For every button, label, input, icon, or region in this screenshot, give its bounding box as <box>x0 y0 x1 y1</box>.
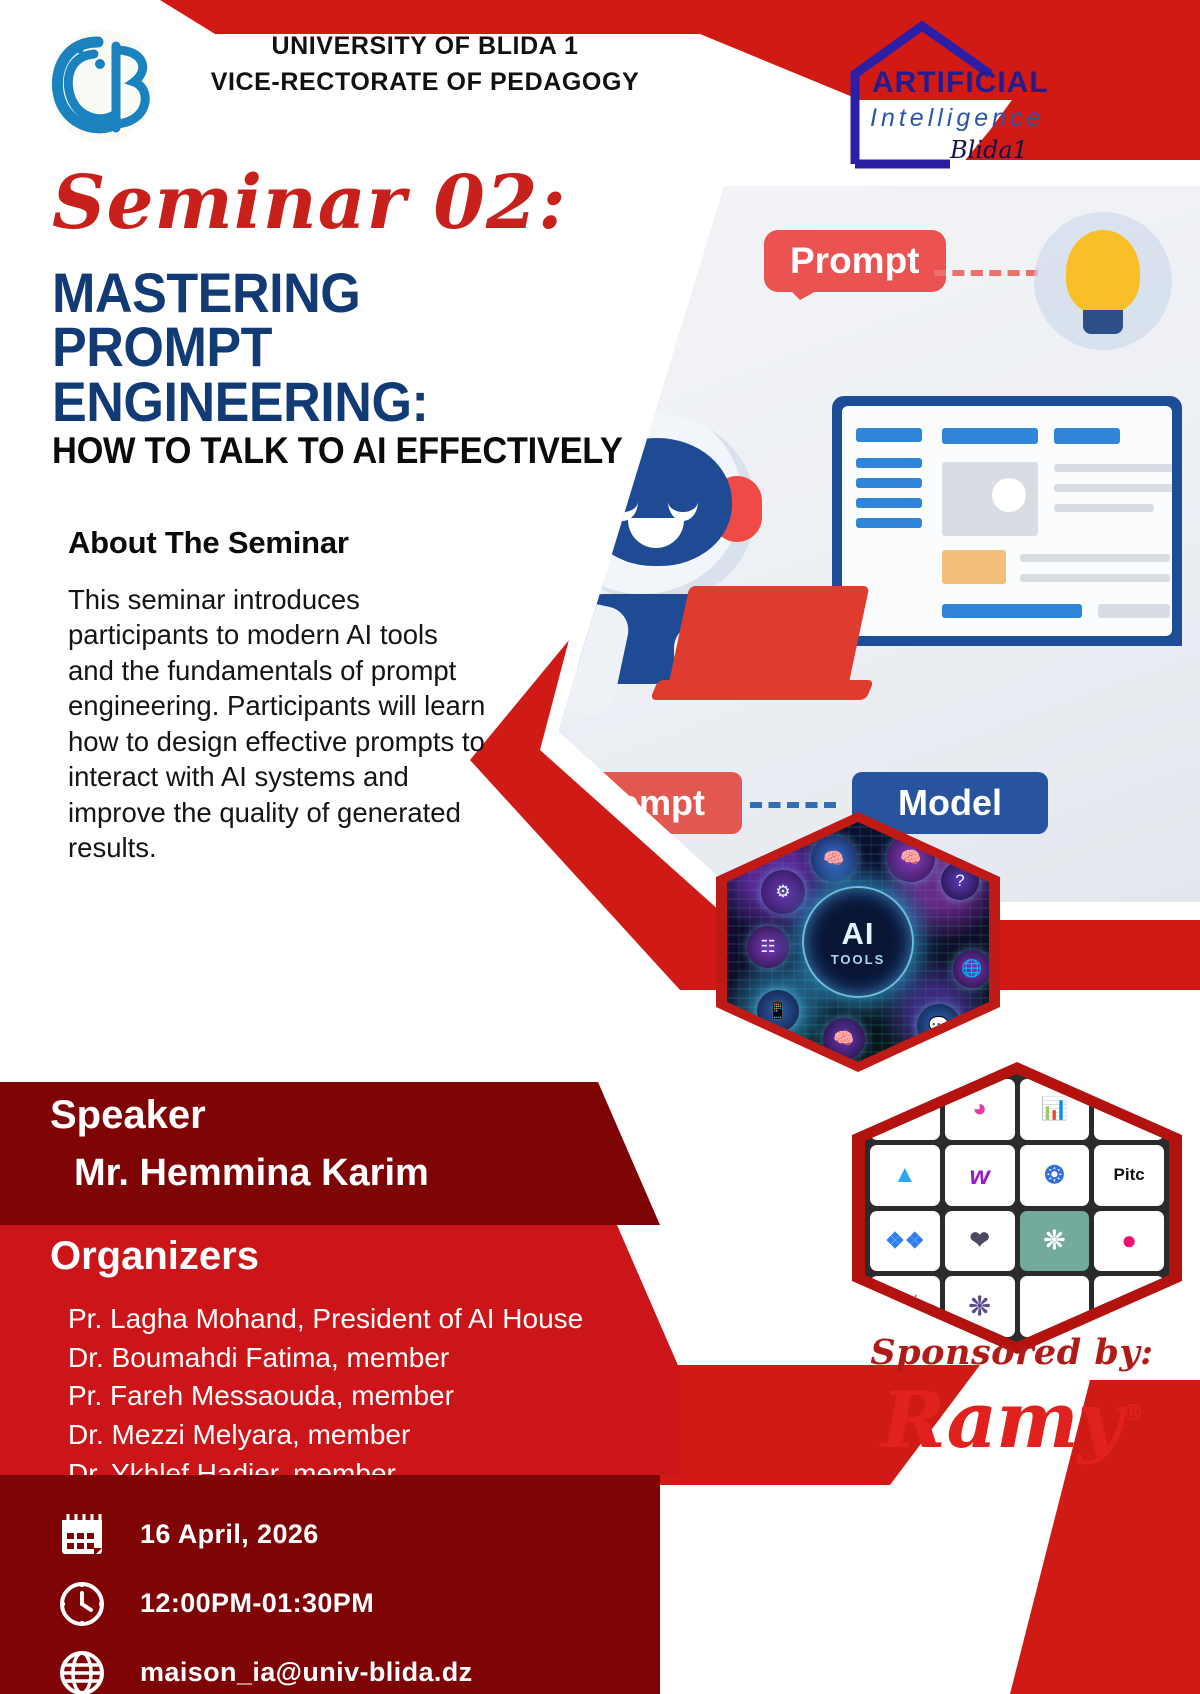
calendar-icon <box>58 1509 120 1561</box>
app-icon-1: ❖ <box>870 1079 940 1140</box>
prompt-to-bulb-dashes <box>934 270 1038 276</box>
sponsor-logo: Ramy® <box>862 1382 1162 1460</box>
node-phone-icon: 📱 <box>757 990 799 1032</box>
organizers-label: Organizers <box>50 1234 259 1279</box>
app-icon-smile: ◕ <box>945 1079 1015 1140</box>
app-icon-chart2: 📈 <box>870 1276 940 1337</box>
page-title: MASTERING PROMPT ENGINEERING: <box>52 266 526 429</box>
node-chat-icon: 💬 <box>917 1004 961 1048</box>
download-icon <box>612 840 680 879</box>
event-date: 16 April, 2026 <box>140 1519 319 1550</box>
node-gear-icon: ⚙ <box>761 870 805 914</box>
flow-dashes <box>750 802 836 808</box>
list-item: Pr. Fareh Messaouda, member <box>68 1377 668 1416</box>
node-brain-icon: 🧠 <box>811 836 857 882</box>
app-icon-pitch: Pitc <box>1094 1145 1164 1206</box>
app-icon-16 <box>1094 1276 1164 1337</box>
sponsor-name: Ramy <box>881 1375 1122 1466</box>
robot-eye-right <box>668 482 698 521</box>
app-icon-diamonds: ❖❖ <box>870 1211 940 1272</box>
header-org-text: UNIVERSITY OF BLIDA 1 VICE-RECTORATE OF … <box>190 28 660 101</box>
list-item: Dr. Mezzi Melyara, member <box>68 1416 668 1455</box>
sponsor-trademark: ® <box>1122 1400 1143 1426</box>
sponsor-label: Sponsored by: <box>862 1332 1162 1373</box>
app-icon-4: ◈ <box>1094 1079 1164 1140</box>
robot-ear-left-inner <box>552 486 582 530</box>
node-network-icon: ☷ <box>747 926 789 968</box>
app-icon-openai2: ❊ <box>945 1276 1015 1337</box>
robot-antenna-stem <box>632 354 648 416</box>
title-line-1: MASTERING PROMPT <box>52 266 526 375</box>
seminar-number: Seminar 02: <box>52 166 572 240</box>
about-heading: About The Seminar <box>68 525 349 561</box>
list-item: Pr. Lagha Mohand, President of AI House <box>68 1300 668 1339</box>
app-icon-15 <box>1020 1276 1090 1337</box>
ai-core-line-2: TOOLS <box>831 952 886 967</box>
app-icon-openai: ❊ <box>1020 1211 1090 1272</box>
list-item: Dr. Boumahdi Fatima, member <box>68 1339 668 1378</box>
prompt-flow-tag: Prompt <box>542 772 742 834</box>
app-icon-chart: 📊 <box>1020 1079 1090 1140</box>
university-logo <box>40 24 170 144</box>
about-body-text: This seminar introduces participants to … <box>68 582 488 866</box>
contact-row-time: 12:00PM-01:30PM <box>58 1569 618 1638</box>
title-line-2: ENGINEERING: <box>52 375 526 429</box>
speaker-name: Mr. Hemmina Karim <box>74 1152 429 1195</box>
robot-red-laptop <box>667 586 870 694</box>
app-icon-pink: ● <box>1094 1211 1164 1272</box>
prompt-speech-bubble: Prompt <box>764 230 946 292</box>
node-brain2-icon: 🧠 <box>887 834 935 882</box>
node-brain3-icon: 🧠 <box>823 1018 865 1060</box>
robot-illustration-panel: Prompt <box>496 186 1200 902</box>
ai-logo-line-3: Blida1 <box>950 136 1028 164</box>
laptop-screen-content <box>842 406 1172 636</box>
page-subtitle: HOW TO TALK TO AI EFFECTIVELY <box>52 432 573 469</box>
robot-antenna-ball <box>622 322 656 356</box>
ai-tools-hexagon: ⚙ 🧠 🧠 ? ☷ 📱 🧠 💬 🌐 AI TOOLS <box>716 812 1000 1072</box>
robot-red-laptop-base <box>650 680 874 700</box>
app-icon-heart: ❤ <box>945 1211 1015 1272</box>
ai-tools-hex-image: ⚙ 🧠 🧠 ? ☷ 📱 🧠 💬 🌐 AI TOOLS <box>727 822 989 1062</box>
node-globe-icon: 🌐 <box>953 950 991 988</box>
app-icon-w: w <box>945 1145 1015 1206</box>
ai-logo-line-2: Intelligence <box>870 104 1044 133</box>
globe-icon <box>58 1647 120 1694</box>
ai-apps-hexagon: ❖ ◕ 📊 ◈ ▲ w ❂ Pitc ❖❖ ❤ ❊ ● 📈 ❊ <box>852 1062 1182 1354</box>
clock-icon <box>58 1578 120 1630</box>
laptop-screen <box>832 396 1182 646</box>
node-question-icon: ? <box>941 862 979 900</box>
ai-apps-hex-image: ❖ ◕ 📊 ◈ ▲ w ❂ Pitc ❖❖ ❤ ❊ ● 📈 ❊ <box>865 1074 1169 1342</box>
contact-row-email[interactable]: maison_ia@univ-blida.dz <box>58 1638 618 1694</box>
robot-eye-left <box>608 482 638 521</box>
contact-email[interactable]: maison_ia@univ-blida.dz <box>140 1657 473 1688</box>
header-line-2: VICE-RECTORATE OF PEDAGOGY <box>190 64 660 100</box>
lightbulb-icon <box>1066 230 1140 314</box>
lightbulb-base <box>1083 310 1123 334</box>
contact-row-date: 16 April, 2026 <box>58 1500 618 1569</box>
contact-rows: 16 April, 2026 12:00PM-01:30PM <box>58 1500 618 1694</box>
ai-logo-line-1: ARTIFICIAL <box>872 66 1049 100</box>
seminar-poster: Prompt <box>0 0 1200 1694</box>
ai-tools-core: AI TOOLS <box>802 886 914 998</box>
ai-house-logo: ARTIFICIAL Intelligence Blida1 <box>800 14 1060 174</box>
robot-arm-left <box>547 599 632 720</box>
ai-core-line-1: AI <box>842 918 875 949</box>
event-time: 12:00PM-01:30PM <box>140 1588 374 1619</box>
robot-ear-left <box>542 476 592 542</box>
header-line-1: UNIVERSITY OF BLIDA 1 <box>190 28 660 64</box>
app-icon-triangle: ▲ <box>870 1145 940 1206</box>
speaker-label: Speaker <box>50 1093 206 1138</box>
organizers-list: Pr. Lagha Mohand, President of AI House … <box>68 1300 668 1493</box>
app-icon-star-ring: ❂ <box>1020 1145 1090 1206</box>
